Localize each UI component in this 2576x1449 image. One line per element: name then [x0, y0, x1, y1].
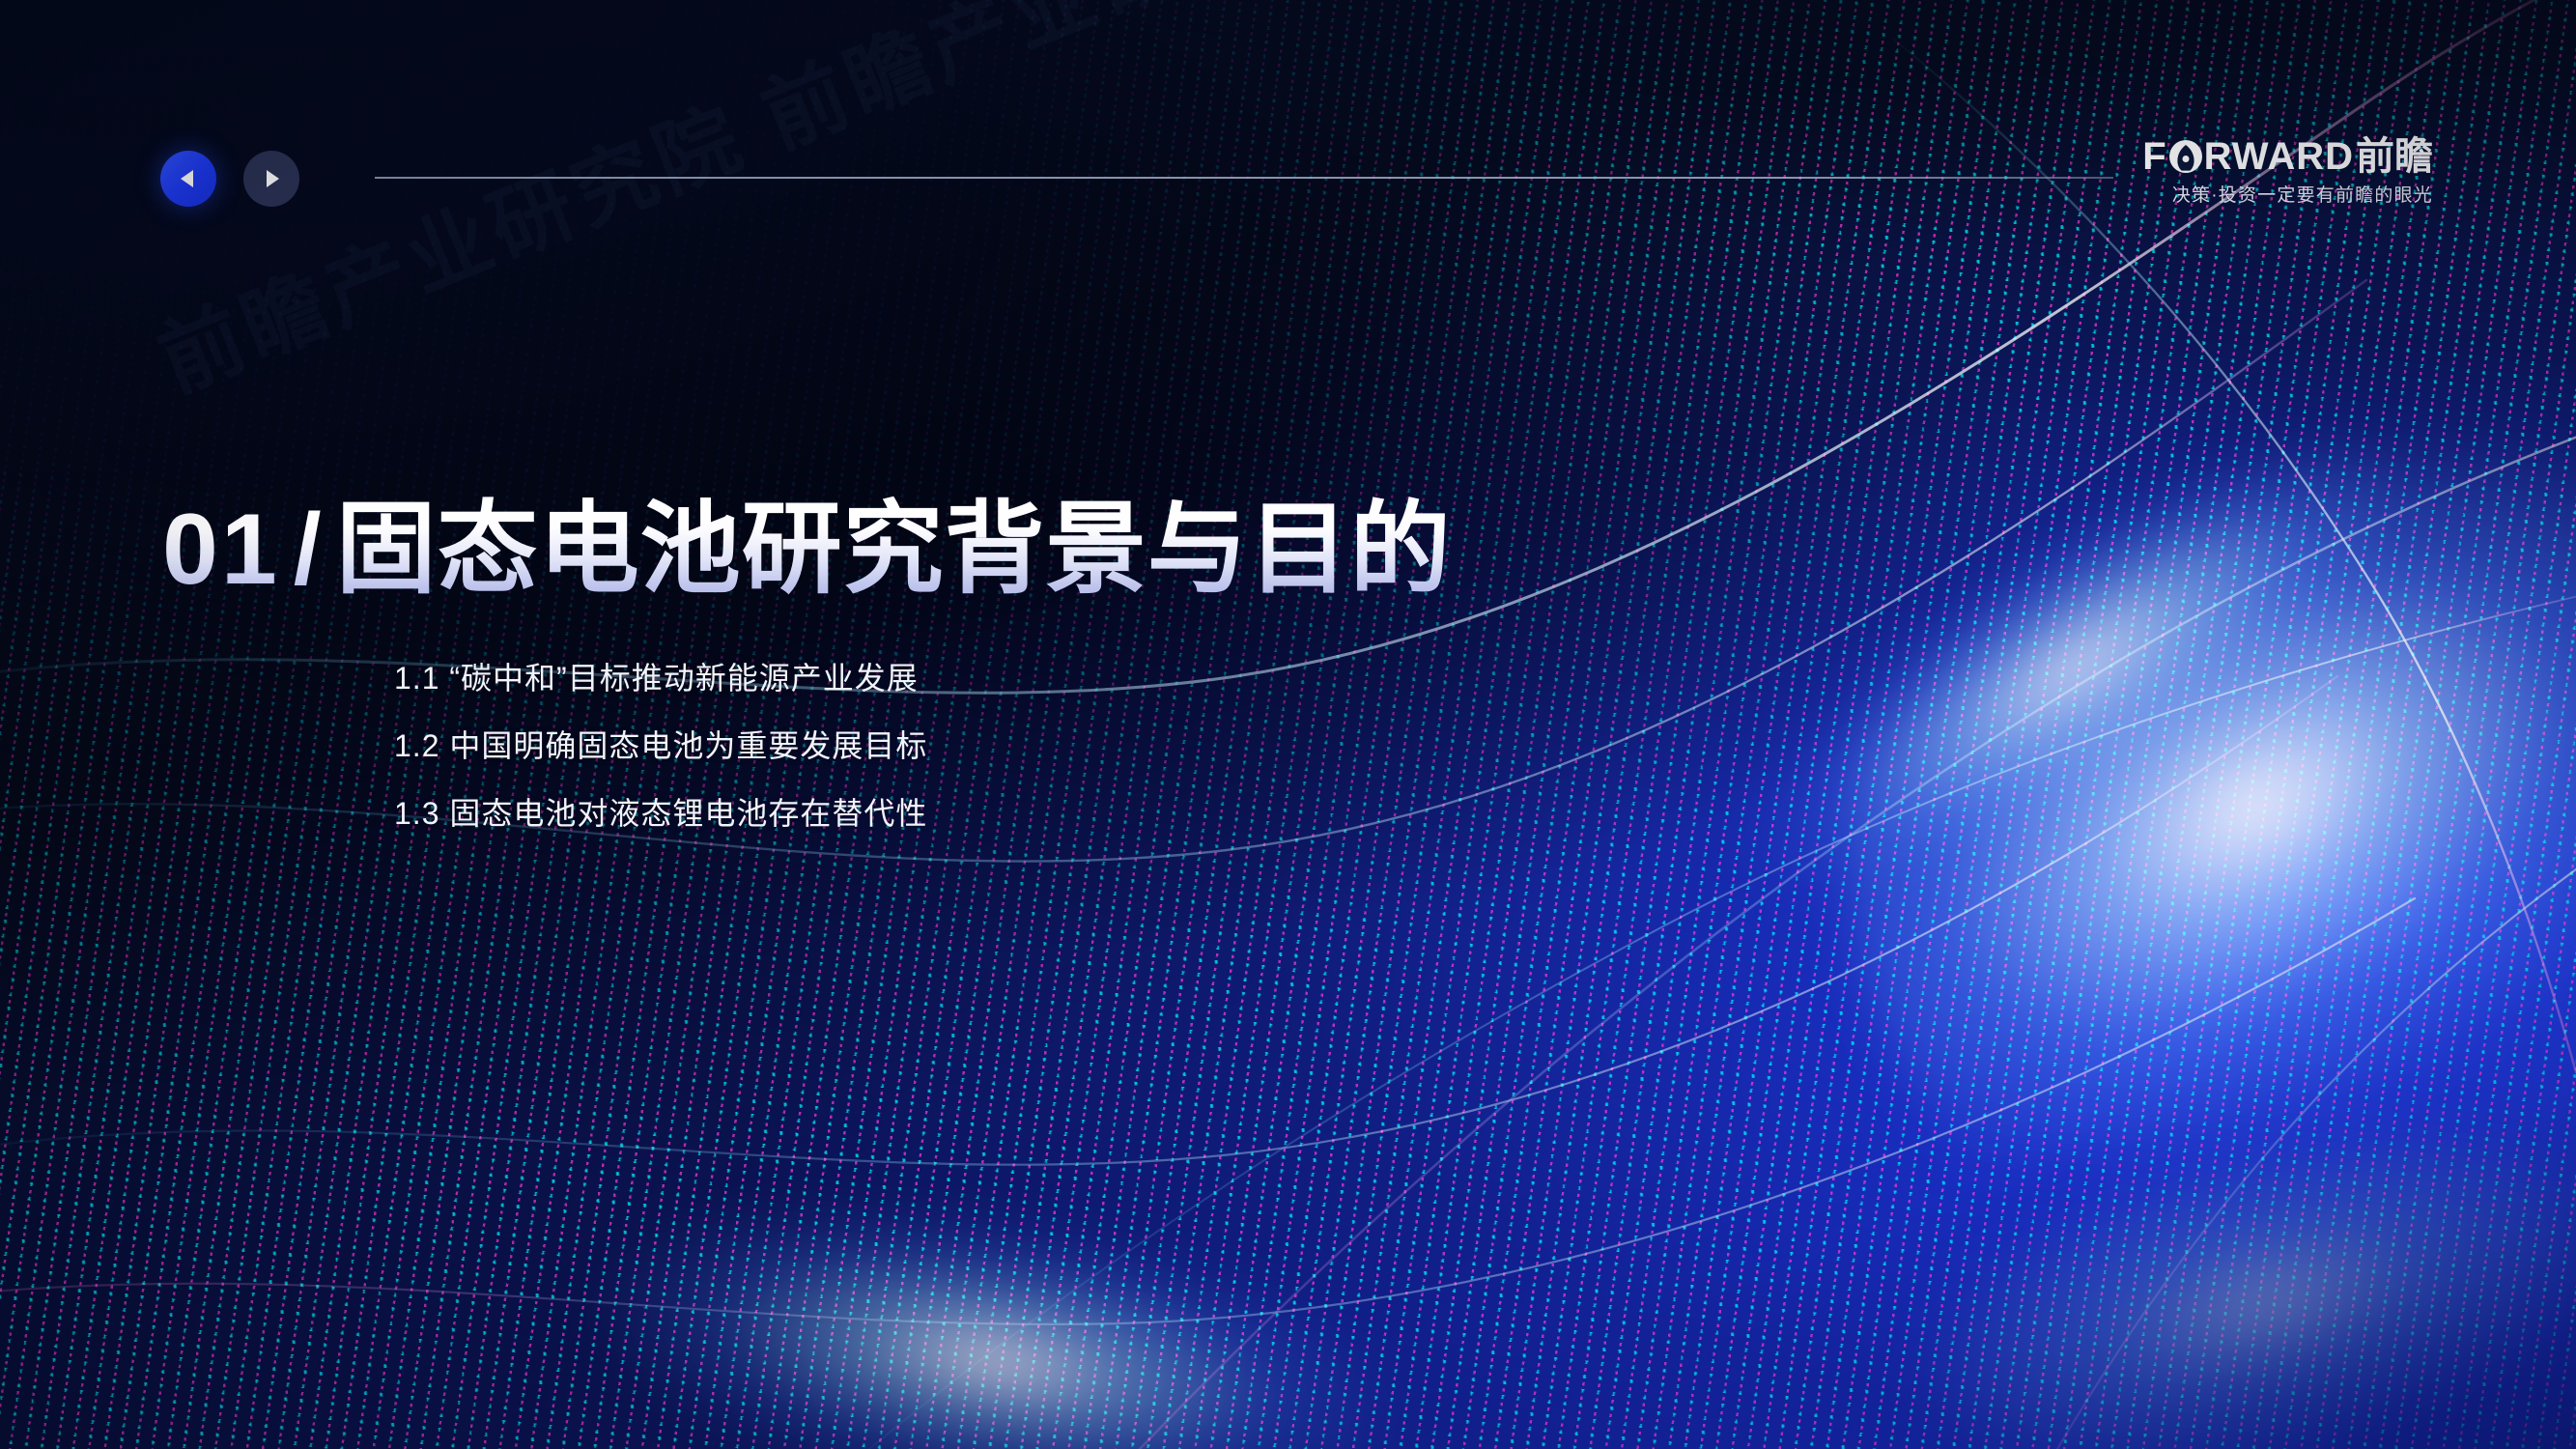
brand-logo: F RWARD 前瞻 决策·投资一定要有前瞻的眼光: [2142, 137, 2433, 205]
agenda-item-1[interactable]: 1.1 “碳中和”目标推动新能源产业发展: [394, 663, 927, 694]
agenda-item-1-label: “碳中和”目标推动新能源产业发展: [449, 661, 918, 696]
agenda-item-2[interactable]: 1.2 中国明确固态电池为重要发展目标: [394, 730, 927, 761]
logo-word-chinese: 前瞻: [2356, 137, 2433, 176]
agenda-item-3-index: 1.3: [394, 796, 439, 831]
agenda-item-2-label: 中国明确固态电池为重要发展目标: [449, 728, 927, 763]
triangle-left-icon: [181, 170, 193, 187]
presentation-slide: 前瞻产业研究院 前瞻产业研究院 F RWARD 前瞻 决策·投资一定要有前瞻的眼…: [0, 0, 2576, 1449]
logo-tagline: 决策·投资一定要有前瞻的眼光: [2142, 186, 2433, 205]
section-number: 01: [162, 494, 280, 606]
agenda-item-2-index: 1.2: [394, 728, 439, 763]
section-title-text: 固态电池研究背景与目的: [336, 494, 1452, 606]
agenda-item-1-index: 1.1: [394, 661, 439, 696]
logo-wordmark: F RWARD 前瞻: [2142, 137, 2433, 176]
previous-slide-button[interactable]: [160, 151, 216, 207]
agenda-list: 1.1 “碳中和”目标推动新能源产业发展 1.2 中国明确固态电池为重要发展目标…: [394, 663, 927, 829]
logo-word-rward: RWARD: [2204, 137, 2354, 176]
logo-word-f: F: [2142, 137, 2166, 176]
title-separator: /: [280, 494, 336, 606]
agenda-item-3[interactable]: 1.3 固态电池对液态锂电池存在替代性: [394, 798, 927, 829]
header-divider: [375, 177, 2113, 179]
mesh-edge-fade: [0, 0, 2576, 1449]
page-title: 01/固态电池研究背景与目的: [162, 491, 1452, 610]
slide-navigation: [160, 151, 299, 207]
triangle-right-icon: [267, 170, 279, 187]
agenda-item-3-label: 固态电池对液态锂电池存在替代性: [449, 796, 927, 831]
logo-eye-icon: [2168, 139, 2203, 174]
next-slide-button[interactable]: [243, 151, 299, 207]
